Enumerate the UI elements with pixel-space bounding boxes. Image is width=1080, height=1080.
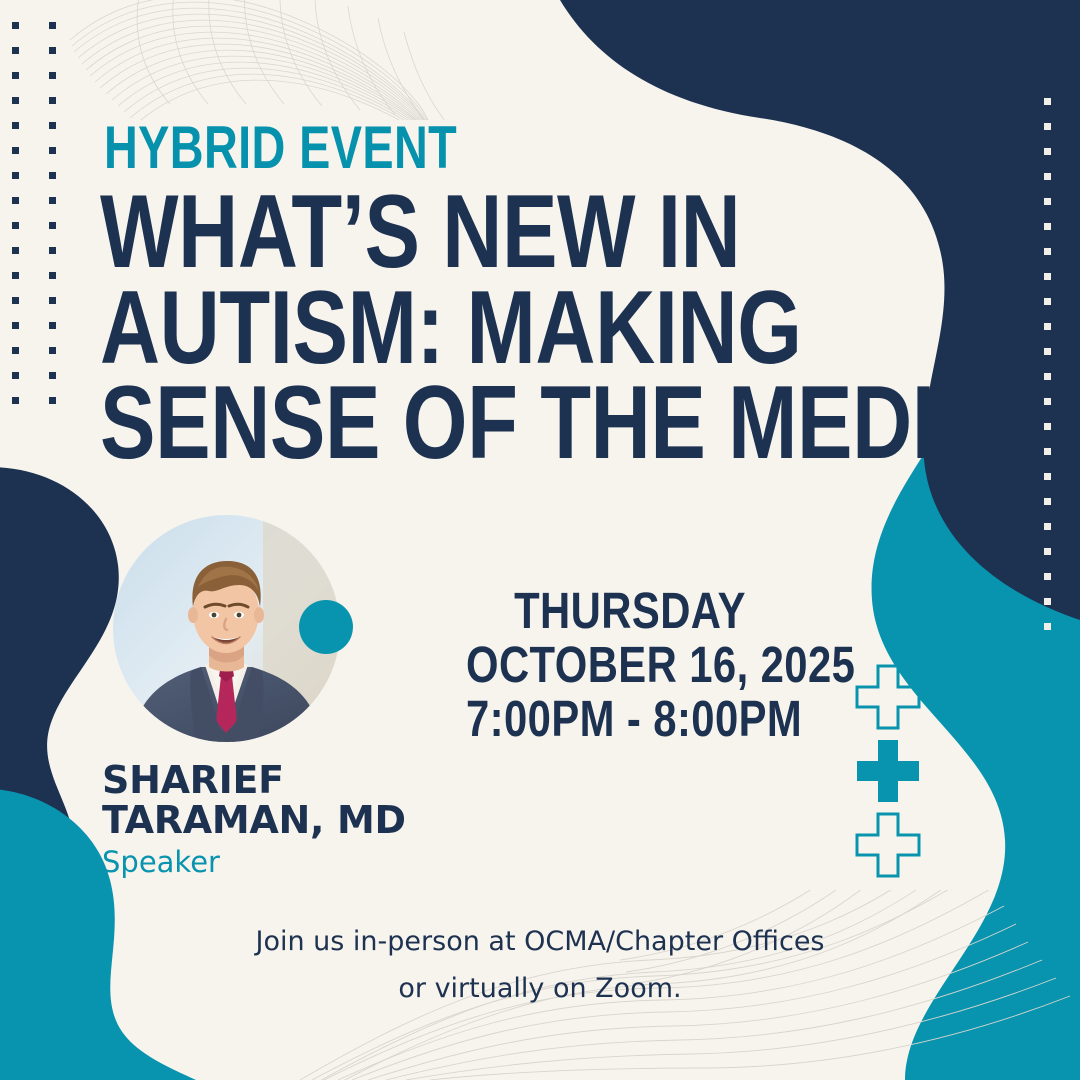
speaker-info: SHARIEF TARAMAN, MD Speaker bbox=[102, 760, 522, 881]
speaker-role: Speaker bbox=[102, 844, 522, 882]
dot bbox=[1044, 398, 1051, 405]
dot bbox=[1044, 473, 1051, 480]
teal-accent-circle bbox=[299, 600, 353, 654]
dot bbox=[49, 297, 56, 304]
dot bbox=[49, 272, 56, 279]
headline-line-3: SENSE OF THE MEDIA bbox=[100, 377, 804, 471]
dot bbox=[1044, 298, 1051, 305]
dot bbox=[49, 247, 56, 254]
dot bbox=[12, 172, 19, 179]
dot bbox=[1044, 623, 1051, 630]
dot bbox=[12, 322, 19, 329]
dot bbox=[49, 122, 56, 129]
dot bbox=[1044, 348, 1051, 355]
dot bbox=[49, 147, 56, 154]
dot bbox=[12, 372, 19, 379]
headline-line-1: WHAT’S NEW IN bbox=[100, 186, 804, 280]
dot bbox=[49, 172, 56, 179]
dot bbox=[1044, 523, 1051, 530]
dot bbox=[1044, 223, 1051, 230]
footer-line-1: Join us in-person at OCMA/Chapter Office… bbox=[180, 918, 900, 965]
dot bbox=[1044, 573, 1051, 580]
medical-cross-outline-icon bbox=[855, 664, 921, 730]
dot bbox=[49, 22, 56, 29]
dot bbox=[12, 297, 19, 304]
dot bbox=[49, 372, 56, 379]
dot bbox=[1044, 98, 1051, 105]
dot bbox=[49, 347, 56, 354]
attendance-note: Join us in-person at OCMA/Chapter Office… bbox=[180, 918, 900, 1013]
dot bbox=[12, 272, 19, 279]
event-date: OCTOBER 16, 2025 bbox=[466, 638, 794, 692]
dot bbox=[1044, 173, 1051, 180]
dot bbox=[1044, 198, 1051, 205]
dot bbox=[49, 47, 56, 54]
dot bbox=[49, 322, 56, 329]
dot bbox=[49, 222, 56, 229]
event-weekday: THURSDAY bbox=[466, 584, 794, 638]
dot bbox=[12, 397, 19, 404]
dot bbox=[1044, 498, 1051, 505]
dot bbox=[12, 247, 19, 254]
dot bbox=[1044, 448, 1051, 455]
dot bbox=[12, 47, 19, 54]
dot bbox=[49, 197, 56, 204]
dot bbox=[49, 72, 56, 79]
medical-cross-filled-icon bbox=[855, 738, 921, 804]
event-poster: HYBRID EVENT WHAT’S NEW IN AUTISM: MAKIN… bbox=[0, 0, 1080, 1080]
speaker-name-line-2: TARAMAN, MD bbox=[102, 800, 522, 840]
event-type-eyebrow: HYBRID EVENT bbox=[104, 118, 457, 178]
dot bbox=[12, 97, 19, 104]
dot-grid-right bbox=[1044, 98, 1080, 630]
dot bbox=[1044, 423, 1051, 430]
dot bbox=[1044, 373, 1051, 380]
medical-cross-outline-icon bbox=[855, 812, 921, 878]
dot bbox=[49, 97, 56, 104]
dot bbox=[12, 222, 19, 229]
dot bbox=[12, 147, 19, 154]
dot bbox=[12, 22, 19, 29]
event-time: 7:00PM - 8:00PM bbox=[466, 692, 794, 746]
dot bbox=[49, 397, 56, 404]
dot bbox=[1044, 273, 1051, 280]
page-title: WHAT’S NEW IN AUTISM: MAKING SENSE OF TH… bbox=[100, 186, 980, 473]
dot bbox=[1044, 323, 1051, 330]
dot-grid-left bbox=[12, 22, 56, 404]
headline-line-2: AUTISM: MAKING bbox=[100, 282, 804, 376]
dot bbox=[1044, 148, 1051, 155]
dot bbox=[1044, 548, 1051, 555]
dot bbox=[12, 347, 19, 354]
dot bbox=[12, 122, 19, 129]
dot bbox=[1044, 598, 1051, 605]
speaker-name-line-1: SHARIEF bbox=[102, 760, 522, 800]
dot bbox=[1044, 123, 1051, 130]
footer-line-2: or virtually on Zoom. bbox=[180, 965, 900, 1012]
dot bbox=[12, 197, 19, 204]
dot bbox=[12, 72, 19, 79]
event-date-block: THURSDAY OCTOBER 16, 2025 7:00PM - 8:00P… bbox=[430, 584, 830, 746]
dot bbox=[1044, 248, 1051, 255]
